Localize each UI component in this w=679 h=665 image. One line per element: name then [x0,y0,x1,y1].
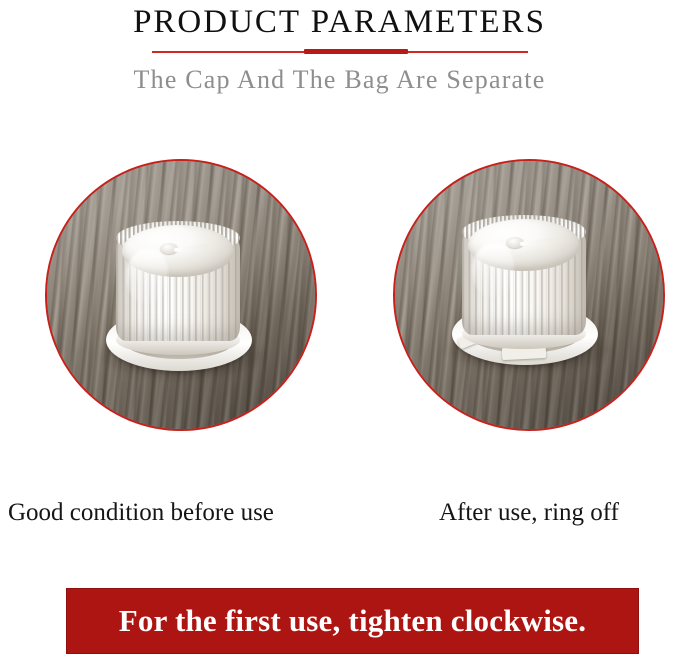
bottle-cap-intact-illustration [104,213,254,385]
caption-cap-ring-off: After use, ring off [393,497,665,529]
cap-highlight-gloss [472,243,514,299]
bottle-cap-ring-off-illustration [450,207,600,379]
instruction-banner: For the first use, tighten clockwise. [66,588,639,654]
photo-cap-intact [45,159,317,431]
photo-cap-ring-off [393,159,665,431]
caption-cap-intact: Good condition before use [8,497,274,529]
photo-comparison-section: Good condition before use After use, rin… [0,0,679,665]
instruction-banner-text: For the first use, tighten clockwise. [119,602,586,640]
cap-highlight-gloss [126,249,168,305]
